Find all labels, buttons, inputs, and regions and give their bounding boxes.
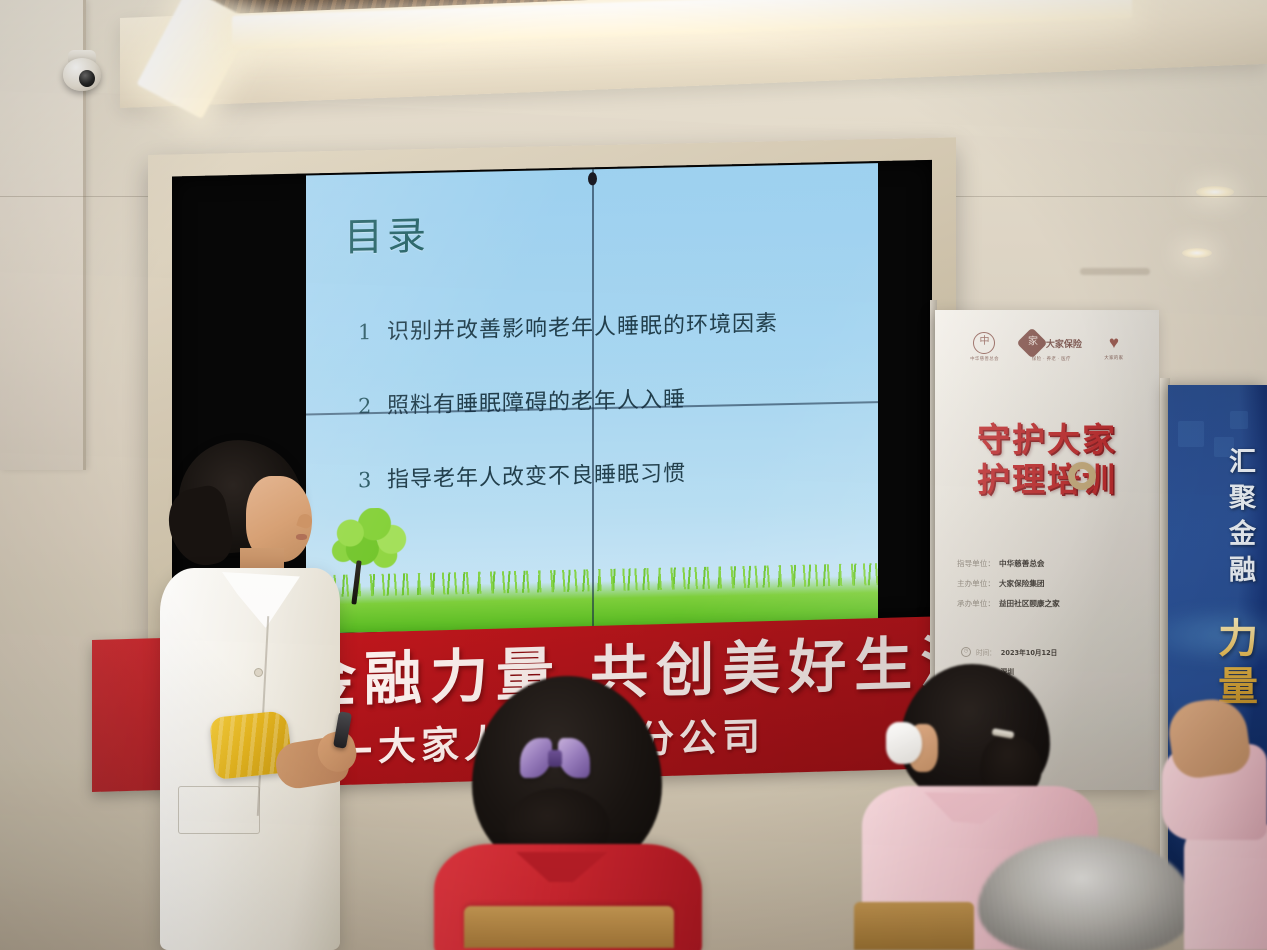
audience-arm	[1165, 695, 1253, 781]
ceiling-vent	[1080, 268, 1150, 275]
blue-banner-text: 汇聚金融	[1220, 447, 1259, 591]
presentation-slide: 目录 1 识别并改善影响老年人睡眠的环境因素 2 照料有睡眠障碍的老年人入睡 3…	[306, 163, 878, 633]
rollup-ring-graphic	[1068, 462, 1096, 490]
event-date-row: ◷ 时间： 2023年10月12日	[961, 647, 1151, 657]
organizer-row: 主办单位： 大家保险集团	[957, 578, 1147, 589]
display-sensor-icon	[588, 172, 597, 185]
dajia-logo-caption: 大家保险	[1046, 337, 1082, 350]
sponsor-logo-row: 中 中华慈善总会 家 大家保险 保险 · 养老 · 医疗 ♥ 大家的家	[935, 332, 1159, 362]
agenda-item: 1 识别并改善影响老年人睡眠的环境因素	[358, 303, 878, 346]
charity-logo-icon: 中	[973, 332, 995, 354]
dajia-logo-subcaption: 保险 · 养老 · 医疗	[1032, 356, 1071, 362]
event-date-label: 时间：	[976, 647, 996, 657]
dajia-insurance-logo: 家 大家保险 保险 · 养老 · 医疗	[1021, 332, 1082, 362]
heart-icon: ♥	[1104, 333, 1124, 353]
rollup-title-line-1: 守护大家	[935, 420, 1159, 460]
video-wall-seam-vertical	[592, 169, 594, 627]
event-date-value: 2023年10月12日	[1001, 647, 1058, 657]
camera-lens-icon	[79, 70, 95, 87]
agenda-text: 照料有睡眠障碍的老年人入睡	[387, 381, 686, 420]
dajia-home-caption: 大家的家	[1104, 355, 1123, 361]
organizer-value: 大家保险集团	[999, 578, 1045, 589]
dajia-logo-icon: 家	[1016, 327, 1047, 358]
banner-decor-square	[1230, 411, 1248, 429]
organizer-row: 指导单位： 中华慈善总会	[957, 558, 1147, 569]
bow-knot	[548, 750, 562, 767]
slide-title: 目录	[344, 217, 430, 258]
organizer-value: 益田社区颐康之家	[999, 598, 1060, 609]
organizer-label: 指导单位：	[957, 558, 995, 569]
audience-torso	[1184, 824, 1267, 950]
ceiling-downlight	[1182, 248, 1212, 258]
bow-right-loop	[558, 738, 590, 778]
banner-decor-square	[1178, 421, 1204, 447]
rollup-title-line-2: 护理培训	[935, 460, 1159, 500]
photo-scene: 目录 1 识别并改善影响老年人睡眠的环境因素 2 照料有睡眠障碍的老年人入睡 3…	[0, 0, 1267, 950]
agenda-text: 指导老年人改变不良睡眠习惯	[387, 455, 686, 494]
charity-federation-logo: 中 中华慈善总会	[970, 332, 999, 362]
agenda-number: 2	[358, 394, 373, 418]
face-mask	[886, 722, 922, 764]
organizer-row: 承办单位： 益田社区颐康之家	[957, 598, 1147, 609]
organizer-value: 中华慈善总会	[999, 558, 1045, 569]
presenter-lips	[296, 534, 307, 540]
agenda-number: 1	[358, 320, 373, 344]
organizer-list: 指导单位： 中华慈善总会 主办单位： 大家保险集团 承办单位： 益田社区颐康之家	[957, 558, 1147, 618]
wooden-chair-back	[854, 902, 974, 950]
dajia-logo-row: 家 大家保险	[1021, 332, 1082, 354]
agenda-item: 3 指导老年人改变不良睡眠习惯	[358, 451, 878, 494]
organizer-label: 主办单位：	[957, 578, 995, 589]
wooden-chair-back	[464, 906, 674, 948]
dome-security-camera	[60, 50, 104, 92]
charity-logo-caption: 中华慈善总会	[970, 356, 999, 362]
rollup-title: 守护大家 护理培训	[935, 420, 1159, 500]
presenter-pocket	[178, 786, 260, 834]
organizer-label: 承办单位：	[957, 598, 995, 609]
presenter-nurse	[150, 440, 365, 950]
agenda-item: 2 照料有睡眠障碍的老年人入睡	[358, 377, 878, 420]
dajia-home-logo: ♥ 大家的家	[1104, 333, 1124, 361]
purple-hair-bow	[520, 738, 590, 778]
uniform-button	[254, 668, 263, 677]
audience-member-raised-arm	[1162, 700, 1267, 950]
agenda-text: 识别并改善影响老年人睡眠的环境因素	[387, 305, 778, 346]
agenda-list: 1 识别并改善影响老年人睡眠的环境因素 2 照料有睡眠障碍的老年人入睡 3 指导…	[358, 303, 878, 536]
clock-icon: ◷	[961, 647, 971, 657]
